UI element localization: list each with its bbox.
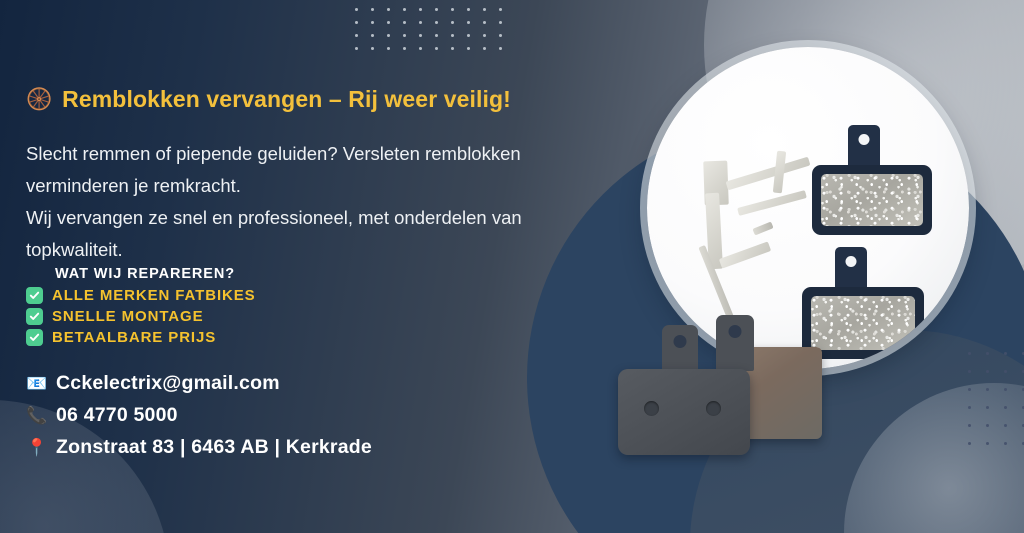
- contact-phone[interactable]: 📞 06 4770 5000: [26, 404, 372, 427]
- contact-address-text[interactable]: Zonstraat 83 | 6463 AB | Kerkrade: [56, 436, 372, 459]
- spring-clip-arm: [737, 190, 807, 216]
- repair-label: BETAALBARE PRIJS: [52, 329, 216, 346]
- check-icon: [26, 329, 43, 346]
- list-item: SNELLE MONTAGE: [26, 308, 256, 325]
- contact-email[interactable]: 📧 Cckelectrix@gmail.com: [26, 372, 372, 395]
- dot-grid-bottom-right: [968, 352, 1024, 460]
- page-title: Remblokken vervangen – Rij weer veilig!: [62, 86, 511, 113]
- check-icon: [26, 287, 43, 304]
- repair-label: ALLE MERKEN FATBIKES: [52, 287, 256, 304]
- spring-clip-part: [719, 241, 771, 268]
- location-pin-icon: 📍: [26, 439, 47, 456]
- headline-row: 🛞 Remblokken vervangen – Rij weer veilig…: [26, 86, 511, 113]
- intro-line: topkwaliteit.: [26, 234, 638, 266]
- contact-phone-text[interactable]: 06 4770 5000: [56, 404, 178, 427]
- phone-icon: 📞: [26, 407, 47, 424]
- allen-key-head: [752, 222, 773, 236]
- repairs-title: WAT WIJ REPAREREN?: [55, 266, 256, 282]
- worn-brake-pads: [610, 307, 860, 507]
- banner-content: 🛞 Remblokken vervangen – Rij weer veilig…: [26, 0, 646, 533]
- brake-pad-new-top: [812, 125, 932, 235]
- list-item: BETAALBARE PRIJS: [26, 329, 256, 346]
- repair-label: SNELLE MONTAGE: [52, 308, 204, 325]
- contact-section: 📧 Cckelectrix@gmail.com 📞 06 4770 5000 📍…: [26, 372, 372, 468]
- email-icon: 📧: [26, 375, 47, 392]
- intro-line: Slecht remmen of piepende geluiden? Vers…: [26, 138, 638, 170]
- spring-clip-arm: [726, 157, 811, 191]
- list-item: ALLE MERKEN FATBIKES: [26, 287, 256, 304]
- wheel-icon: 🛞: [26, 89, 52, 110]
- check-icon: [26, 308, 43, 325]
- repairs-section: WAT WIJ REPAREREN? ALLE MERKEN FATBIKES …: [26, 266, 256, 350]
- contact-email-text[interactable]: Cckelectrix@gmail.com: [56, 372, 280, 395]
- intro-line: verminderen je remkracht.: [26, 170, 638, 202]
- promo-banner: 🛞 Remblokken vervangen – Rij weer veilig…: [0, 0, 1024, 533]
- contact-address[interactable]: 📍 Zonstraat 83 | 6463 AB | Kerkrade: [26, 436, 372, 459]
- intro-paragraph: Slecht remmen of piepende geluiden? Vers…: [26, 138, 638, 266]
- intro-line: Wij vervangen ze snel en professioneel, …: [26, 202, 638, 234]
